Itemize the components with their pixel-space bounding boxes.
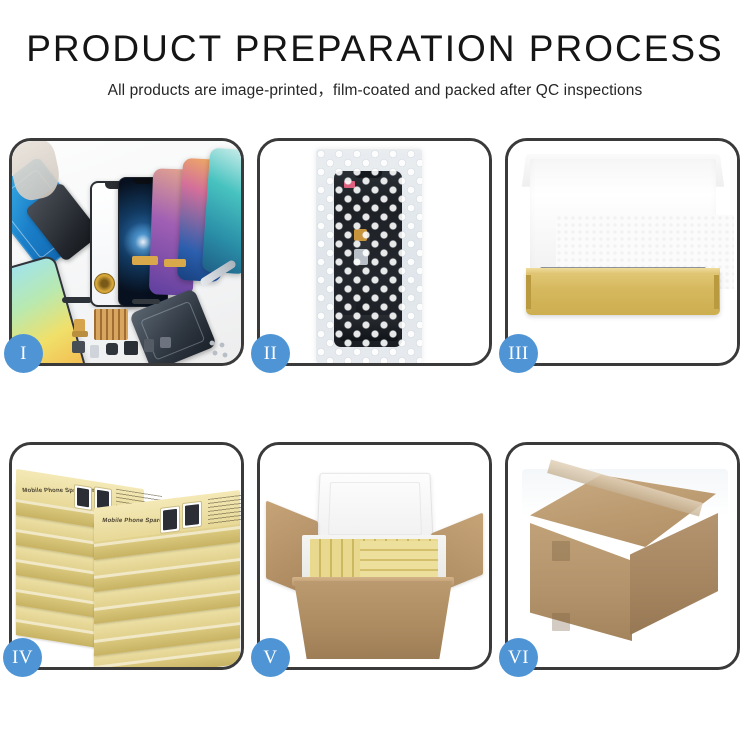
step-image-6 (508, 445, 737, 667)
page-subtitle: All products are image-printed，film-coat… (0, 78, 750, 100)
chip-array-part (94, 309, 128, 340)
flex-cable-part (62, 297, 92, 303)
gold-flex-part-2 (164, 259, 186, 267)
page-title: PRODUCT PREPARATION PROCESS (0, 30, 750, 69)
small-part-7 (160, 337, 171, 348)
product-preparation-infographic: PRODUCT PREPARATION PROCESS All products… (0, 0, 750, 750)
screws-part (208, 339, 230, 359)
sim-tray-part (90, 345, 99, 358)
step-badge-1: I (4, 334, 43, 373)
small-part-4 (106, 343, 118, 355)
header: PRODUCT PREPARATION PROCESS All products… (0, 0, 750, 100)
box-stack: Mobile Phone Spare Parts Mobile Phone Sp… (16, 457, 238, 655)
step-image-3 (508, 141, 737, 363)
small-part-2 (72, 341, 85, 353)
carton-body (294, 581, 452, 659)
flex-cable-part-2 (132, 299, 160, 304)
carton-seam-tab-top (552, 541, 570, 561)
step-badge-3: III (499, 334, 538, 373)
step-panel-5: V (257, 442, 492, 670)
small-part-8 (72, 331, 88, 337)
step-image-1 (12, 141, 241, 363)
box-art-screen-left-1 (74, 484, 92, 511)
step-badge-4: IV (3, 638, 42, 677)
bubble-texture (316, 149, 422, 363)
carton-front-face (530, 523, 632, 641)
step-panel-3: III (505, 138, 740, 366)
step-image-5 (260, 445, 489, 667)
foam-lid (530, 159, 716, 277)
step-panel-4: Mobile Phone Spare Parts Mobile Phone Sp… (9, 442, 244, 670)
steps-grid: I II (9, 138, 741, 670)
step-badge-2: II (251, 334, 290, 373)
step-badge-6: VI (499, 638, 538, 677)
step-panel-1: I (9, 138, 244, 366)
step-panel-2: II (257, 138, 492, 366)
step-panel-6: VI (505, 442, 740, 670)
step-image-4: Mobile Phone Spare Parts Mobile Phone Sp… (12, 445, 241, 667)
tray-notch-left (526, 275, 531, 309)
box-art-screen-right-1 (160, 505, 180, 533)
vibration-motor-part (94, 273, 115, 294)
step-badge-5: V (251, 638, 290, 677)
step-image-2 (260, 141, 489, 363)
tray-notch-right (714, 275, 719, 309)
speaker-part (124, 341, 138, 355)
gold-flex-part (132, 256, 158, 265)
kraft-inner-tray (526, 271, 720, 315)
small-part-6 (144, 339, 154, 352)
bubble-wrap-bag (316, 149, 422, 363)
carton-seam-tab-bottom (552, 613, 570, 631)
box-art-screen-right-2 (182, 501, 202, 529)
box-spec-lines-right (208, 493, 241, 525)
